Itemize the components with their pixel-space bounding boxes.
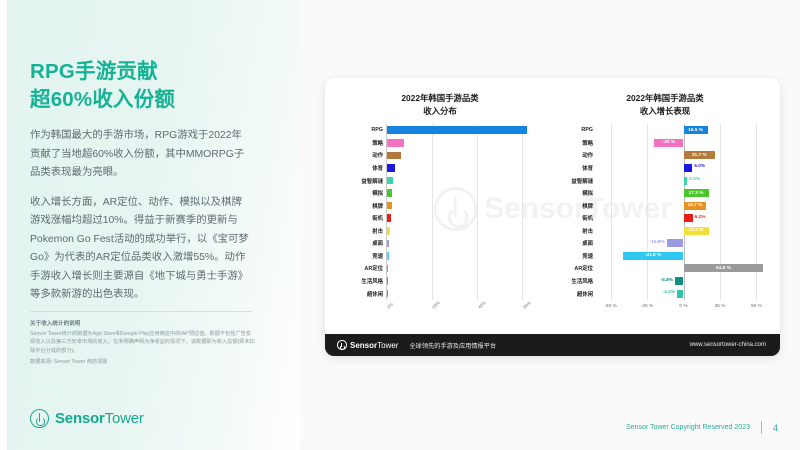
chart-right-category-row: 射击 — [553, 225, 593, 238]
chart-right-bar-value: -20 % — [663, 140, 676, 145]
chart-left-bar — [387, 139, 404, 147]
methodology-note: 关于收入统计的说明 Sensor Tower统计的数据为App Store和Go… — [30, 319, 255, 367]
note-divider — [30, 311, 252, 312]
chart-right-bar-row: -41.8 % — [596, 250, 771, 263]
chart-right-category-row: 棋牌 — [553, 199, 593, 212]
chart-right-category-label: 超休闲 — [577, 287, 593, 300]
chart-right-category-label: 桌面 — [582, 237, 593, 250]
chart-left-bar — [387, 164, 395, 172]
chart-right-category-row: 模拟 — [553, 187, 593, 200]
headline-line-2: 超60%收入份额 — [30, 86, 275, 114]
chart-right-bar-value: 6.0% — [694, 164, 705, 169]
chart-revenue-growth: 2022年韩国手游品类 收入增长表现 RPG策略动作体育益智解谜模拟棋牌街机射击… — [553, 78, 777, 326]
chart-left-bar-row — [387, 162, 545, 175]
chart-right-category-label: 模拟 — [582, 187, 593, 200]
page-number: 4 — [773, 423, 778, 433]
body-copy: 作为韩国最大的手游市场，RPG游戏于2022年贡献了当地超60%收入份额，其中M… — [30, 127, 252, 305]
note-title: 关于收入统计的说明 — [30, 319, 255, 327]
chart-right-bar-value: -11.6% — [650, 240, 665, 245]
chart-right-category-row: 益智解谜 — [553, 174, 593, 187]
chart-right-category-row: 动作 — [553, 149, 593, 162]
chart-right-tick-label: -50 % — [604, 304, 617, 309]
card-footer-brand-light: Tower — [377, 341, 398, 350]
chart-left-category-row: AR定位 — [331, 262, 383, 275]
chart-left-category-label: 竞速 — [372, 250, 383, 263]
chart-right-bar-row: -4.4% — [596, 287, 771, 300]
left-white-edge — [0, 0, 7, 450]
chart-right-category-labels: RPG策略动作体育益智解谜模拟棋牌街机射击桌面竞速AR定位生活风格超休闲 — [553, 124, 593, 300]
chart-right-category-label: AR定位 — [574, 262, 593, 275]
chart-left-bar-row — [387, 174, 545, 187]
chart-left-category-label: 策略 — [372, 137, 383, 150]
chart-left-category-label: 棋牌 — [372, 199, 383, 212]
chart-right-category-row: AR定位 — [553, 262, 593, 275]
chart-right-bar-value: 17.3 % — [689, 191, 704, 196]
chart-left-category-label: 模拟 — [372, 187, 383, 200]
chart-right-bar — [675, 277, 683, 285]
chart-right-bar: 17.3 % — [684, 189, 709, 197]
chart-left-title-line1: 2022年韩国手游品类 — [331, 92, 549, 105]
card-footer-mark-icon — [337, 340, 347, 350]
chart-right-bar-value: 15.7 % — [687, 203, 702, 208]
chart-left-category-row: 策略 — [331, 137, 383, 150]
chart-left-category-row: RPG — [331, 124, 383, 137]
chart-left-category-row: 生活风格 — [331, 275, 383, 288]
chart-left-x-axis: 0%20%40%60% — [386, 302, 545, 330]
chart-right-bar — [684, 177, 688, 185]
chart-right-x-axis: -50 %-25 %0 %25 %50 % — [596, 304, 771, 318]
chart-left-tick-label: 20% — [431, 300, 441, 310]
chart-left-bar-row — [387, 262, 545, 275]
footer-divider — [761, 421, 762, 434]
chart-left-title-line2: 收入分布 — [331, 105, 549, 118]
headline-line-1: RPG手游贡献 — [30, 58, 275, 86]
chart-right-bar: -20 % — [654, 139, 683, 147]
chart-right-plot: RPG策略动作体育益智解谜模拟棋牌街机射击桌面竞速AR定位生活风格超休闲 16.… — [553, 124, 777, 300]
chart-left-category-row: 益智解谜 — [331, 174, 383, 187]
chart-right-tick-label: 50 % — [751, 304, 762, 309]
chart-right-bar-row: 16.5 % — [596, 124, 771, 137]
chart-left-bar-row — [387, 275, 545, 288]
chart-left-tick-label: 0% — [386, 302, 394, 310]
chart-left-bar — [387, 277, 388, 285]
chart-right-tick-label: 0 % — [679, 304, 687, 309]
chart-right-category-label: 益智解谜 — [571, 174, 593, 187]
chart-right-category-label: 动作 — [582, 149, 593, 162]
chart-right-bar-row: -20 % — [596, 137, 771, 150]
chart-right-bar-value: 2.5% — [689, 177, 700, 182]
chart-right-bar-row: -5.8% — [596, 275, 771, 288]
chart-right-category-label: 策略 — [582, 137, 593, 150]
page-title: RPG手游贡献 超60%收入份额 — [30, 58, 275, 115]
chart-left-category-label: RPG — [371, 124, 383, 137]
chart-revenue-distribution: 2022年韩国手游品类 收入分布 RPG策略动作体育益智解谜模拟棋牌街机射击桌面… — [331, 78, 549, 326]
chart-right-bar-row: 21.7 % — [596, 149, 771, 162]
chart-left-category-row: 动作 — [331, 149, 383, 162]
chart-left-tick-label: 40% — [477, 300, 487, 310]
chart-right-category-row: RPG — [553, 124, 593, 137]
sensor-tower-mark-icon — [30, 409, 49, 428]
chart-left-bar — [387, 177, 393, 185]
card-footer-bar: SensorTower 全球领先的手游及应用情报平台 www.sensortow… — [325, 334, 780, 356]
chart-right-category-row: 超休闲 — [553, 287, 593, 300]
charts-card: SensorTower 2022年韩国手游品类 收入分布 RPG策略动作体育益智… — [325, 78, 780, 356]
chart-left-category-row: 模拟 — [331, 187, 383, 200]
card-footer-url[interactable]: www.sensortower-china.com — [690, 342, 766, 348]
charts-container: 2022年韩国手游品类 收入分布 RPG策略动作体育益智解谜模拟棋牌街机射击桌面… — [325, 78, 780, 326]
chart-left-category-row: 竞速 — [331, 250, 383, 263]
chart-left-bars — [386, 124, 545, 300]
chart-right-bar-row: 2.5% — [596, 174, 771, 187]
chart-right-category-label: 体育 — [582, 162, 593, 175]
chart-right-bar-value: 17.2 % — [689, 228, 704, 233]
chart-left-category-label: 射击 — [372, 225, 383, 238]
chart-left-category-label: 街机 — [372, 212, 383, 225]
chart-left-bar — [387, 152, 401, 160]
chart-left-category-label: 益智解谜 — [361, 174, 383, 187]
chart-right-title: 2022年韩国手游品类 收入增长表现 — [553, 92, 777, 117]
card-footer-brand-bold: Sensor — [350, 341, 377, 350]
chart-left-bar-row — [387, 212, 545, 225]
logo-text-bold: Sensor — [55, 410, 105, 427]
chart-left-category-row: 射击 — [331, 225, 383, 238]
chart-right-category-label: 生活风格 — [571, 275, 593, 288]
logo-text-light: Tower — [105, 410, 144, 427]
chart-left-bar — [387, 290, 388, 298]
chart-left-bar — [387, 126, 527, 134]
chart-left-title: 2022年韩国手游品类 收入分布 — [331, 92, 549, 117]
copyright-text: Sensor Tower Copyright Reserved 2023 — [626, 424, 750, 431]
chart-right-bar — [677, 290, 683, 298]
chart-right-category-row: 生活风格 — [553, 275, 593, 288]
chart-right-bar-row: 6.0% — [596, 162, 771, 175]
card-footer-wordmark: SensorTower — [350, 341, 398, 350]
chart-right-bars: 16.5 %-20 %21.7 %6.0%2.5%17.3 %15.7 %6.2… — [596, 124, 771, 300]
chart-left-bar-row — [387, 149, 545, 162]
chart-right-tick-label: -25 % — [641, 304, 654, 309]
chart-right-bar-row: 6.2% — [596, 212, 771, 225]
chart-left-bar-row — [387, 199, 545, 212]
chart-left-bar-row — [387, 187, 545, 200]
chart-right-category-label: 竞速 — [582, 250, 593, 263]
chart-left-category-row: 棋牌 — [331, 199, 383, 212]
chart-right-bar-row: 17.3 % — [596, 187, 771, 200]
chart-right-bar: 21.7 % — [684, 151, 716, 159]
chart-right-bar: -41.8 % — [623, 252, 684, 260]
chart-left-bar-row — [387, 237, 545, 250]
chart-left-category-row: 桌面 — [331, 237, 383, 250]
chart-right-category-label: RPG — [581, 124, 593, 137]
chart-right-bar: 15.7 % — [684, 202, 707, 210]
chart-left-category-row: 体育 — [331, 162, 383, 175]
chart-right-bar — [667, 239, 684, 247]
chart-right-bar — [684, 164, 693, 172]
chart-left-bar-row — [387, 137, 545, 150]
chart-left-category-label: 超休闲 — [367, 287, 383, 300]
left-text-panel: RPG手游贡献 超60%收入份额 作为韩国最大的手游市场，RPG游戏于2022年… — [0, 0, 300, 450]
chart-left-category-label: 体育 — [372, 162, 383, 175]
chart-right-category-label: 棋牌 — [582, 199, 593, 212]
chart-right-bar-value: -5.8% — [661, 278, 674, 283]
chart-left-bar-row — [387, 225, 545, 238]
chart-right-category-row: 竞速 — [553, 250, 593, 263]
sensor-tower-wordmark: SensorTower — [55, 410, 144, 427]
chart-right-category-row: 街机 — [553, 212, 593, 225]
chart-left-bar — [387, 202, 392, 210]
chart-right-bar-value: 6.2% — [695, 215, 706, 220]
chart-left-plot: RPG策略动作体育益智解谜模拟棋牌街机射击桌面竞速AR定位生活风格超休闲 0%2… — [331, 124, 549, 300]
chart-right-category-label: 射击 — [582, 225, 593, 238]
chart-left-bar — [387, 240, 389, 248]
chart-left-bar — [387, 214, 391, 222]
chart-right-bar-row: 17.2 % — [596, 225, 771, 238]
paragraph-1: 作为韩国最大的手游市场，RPG游戏于2022年贡献了当地超60%收入份额，其中M… — [30, 127, 252, 183]
slide-footer: Sensor Tower Copyright Reserved 2023 4 — [626, 421, 778, 434]
chart-right-bar-value: -41.8 % — [645, 253, 662, 258]
sensor-tower-logo: SensorTower — [30, 409, 144, 428]
note-body: Sensor Tower统计的数据为App Store和Google Play应… — [30, 330, 255, 357]
chart-left-category-row: 街机 — [331, 212, 383, 225]
note-source: 数据来源: Sensor Tower 商店情报 — [30, 358, 255, 367]
chart-right-title-line1: 2022年韩国手游品类 — [553, 92, 777, 105]
chart-right-title-line2: 收入增长表现 — [553, 105, 777, 118]
chart-right-bar-row: 54.8 % — [596, 262, 771, 275]
chart-left-category-label: 动作 — [372, 149, 383, 162]
chart-right-bar: 54.8 % — [684, 264, 764, 272]
slide-root: RPG手游贡献 超60%收入份额 作为韩国最大的手游市场，RPG游戏于2022年… — [0, 0, 800, 450]
chart-left-category-labels: RPG策略动作体育益智解谜模拟棋牌街机射击桌面竞速AR定位生活风格超休闲 — [331, 124, 383, 300]
chart-left-category-label: 生活风格 — [361, 275, 383, 288]
card-footer-tagline: 全球领先的手游及应用情报平台 — [409, 341, 496, 350]
chart-right-bar — [684, 214, 693, 222]
chart-left-bar-row — [387, 250, 545, 263]
chart-left-category-label: AR定位 — [364, 262, 383, 275]
chart-left-tick-label: 60% — [522, 300, 532, 310]
chart-left-bar — [387, 265, 388, 273]
chart-right-bar-value: -4.4% — [663, 290, 676, 295]
chart-left-bar-row — [387, 287, 545, 300]
chart-left-bar — [387, 227, 390, 235]
chart-right-category-row: 体育 — [553, 162, 593, 175]
chart-left-bar-row — [387, 124, 545, 137]
chart-left-category-row: 超休闲 — [331, 287, 383, 300]
chart-right-category-label: 街机 — [582, 212, 593, 225]
chart-right-bar-row: -11.6% — [596, 237, 771, 250]
chart-right-tick-label: 25 % — [714, 304, 725, 309]
chart-right-bar: 16.5 % — [684, 126, 708, 134]
chart-right-bar-value: 21.7 % — [692, 153, 707, 158]
chart-right-category-row: 策略 — [553, 137, 593, 150]
chart-left-bar — [387, 189, 392, 197]
chart-right-bar-value: 16.5 % — [688, 128, 703, 133]
chart-right-bar: 17.2 % — [684, 227, 709, 235]
card-footer-logo: SensorTower — [337, 340, 398, 350]
paragraph-2: 收入增长方面，AR定位、动作、模拟以及棋牌游戏涨幅均超过10%。得益于新赛季的更… — [30, 194, 252, 305]
chart-left-category-label: 桌面 — [372, 237, 383, 250]
chart-right-bar-row: 15.7 % — [596, 199, 771, 212]
chart-right-bar-value: 54.8 % — [716, 266, 731, 271]
chart-left-bar — [387, 252, 389, 260]
chart-right-category-row: 桌面 — [553, 237, 593, 250]
